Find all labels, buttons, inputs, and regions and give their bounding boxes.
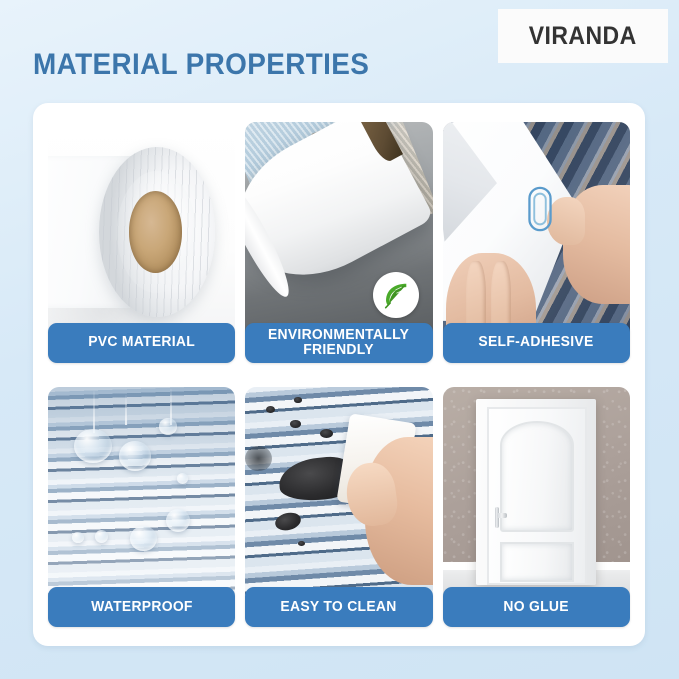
feature-card-easy-to-clean[interactable]: EASY TO CLEAN bbox=[245, 387, 432, 628]
stain-shape bbox=[320, 429, 333, 438]
feature-card-no-glue[interactable]: NO GLUE bbox=[443, 387, 630, 628]
leaf-badge bbox=[373, 272, 419, 318]
water-droplet bbox=[119, 441, 151, 471]
roll-edge-shape bbox=[245, 174, 298, 302]
eco-roll-image bbox=[245, 122, 432, 334]
no-glue-door-image bbox=[443, 387, 630, 599]
stain-shape bbox=[274, 510, 304, 533]
water-droplet bbox=[74, 429, 111, 463]
feature-label-text: WATERPROOF bbox=[91, 600, 193, 615]
pvc-roll-shape bbox=[99, 147, 215, 316]
water-trail bbox=[93, 391, 95, 433]
water-droplet bbox=[159, 418, 178, 435]
stain-shape bbox=[294, 397, 301, 402]
page-title: MATERIAL PROPERTIES bbox=[33, 48, 369, 82]
smudge-shape bbox=[245, 446, 271, 471]
content-panel: PVC MATERIAL bbox=[33, 103, 645, 646]
feature-grid: PVC MATERIAL bbox=[48, 122, 630, 627]
feature-label-pvc-material: PVC MATERIAL bbox=[48, 323, 235, 363]
stain-shape bbox=[298, 541, 305, 546]
stain-shape bbox=[290, 420, 300, 428]
feature-card-pvc-material[interactable]: PVC MATERIAL bbox=[48, 122, 235, 363]
pvc-roll-image bbox=[48, 122, 235, 334]
waterproof-image bbox=[48, 387, 235, 599]
water-droplet bbox=[72, 532, 83, 543]
stain-shape bbox=[266, 406, 275, 413]
feature-label-self-adhesive: SELF-ADHESIVE bbox=[443, 323, 630, 363]
material-properties-infographic: VIRANDA MATERIAL PROPERTIES PVC MATERIAL bbox=[0, 0, 679, 679]
leaf-icon bbox=[381, 280, 411, 310]
feature-label-text: PVC MATERIAL bbox=[88, 335, 195, 350]
feature-label-text: EASY TO CLEAN bbox=[281, 600, 397, 615]
easy-to-clean-image bbox=[245, 387, 432, 599]
door-panel-top-shape bbox=[500, 421, 574, 532]
brand-logo-box: VIRANDA bbox=[498, 9, 668, 63]
feature-label-waterproof: WATERPROOF bbox=[48, 587, 235, 627]
paperclip-icon bbox=[525, 185, 555, 233]
feature-label-no-glue: NO GLUE bbox=[443, 587, 630, 627]
hand-right-shape bbox=[563, 185, 630, 303]
door-handle-icon bbox=[491, 507, 507, 528]
feature-label-environmentally-friendly: ENVIRONMENTALLY FRIENDLY bbox=[245, 323, 432, 363]
door-leaf-shape bbox=[487, 407, 587, 586]
brand-name: VIRANDA bbox=[529, 22, 637, 51]
feature-card-self-adhesive[interactable]: SELF-ADHESIVE bbox=[443, 122, 630, 363]
self-adhesive-image bbox=[443, 122, 630, 334]
water-droplet bbox=[95, 530, 108, 543]
feature-card-waterproof[interactable]: WATERPROOF bbox=[48, 387, 235, 628]
feature-label-text: ENVIRONMENTALLY FRIENDLY bbox=[268, 328, 409, 358]
peel-fold-shape bbox=[443, 122, 497, 242]
feature-label-text: SELF-ADHESIVE bbox=[479, 335, 594, 350]
water-droplet bbox=[177, 473, 188, 484]
water-droplet bbox=[166, 509, 190, 532]
feature-label-easy-to-clean: EASY TO CLEAN bbox=[245, 587, 432, 627]
water-droplet bbox=[130, 526, 156, 551]
door-panel-bottom-shape bbox=[500, 542, 574, 581]
feature-label-text: NO GLUE bbox=[504, 600, 569, 615]
water-trail bbox=[125, 395, 127, 425]
feature-card-environmentally-friendly[interactable]: ENVIRONMENTALLY FRIENDLY bbox=[245, 122, 432, 363]
door-frame-shape bbox=[476, 399, 596, 585]
